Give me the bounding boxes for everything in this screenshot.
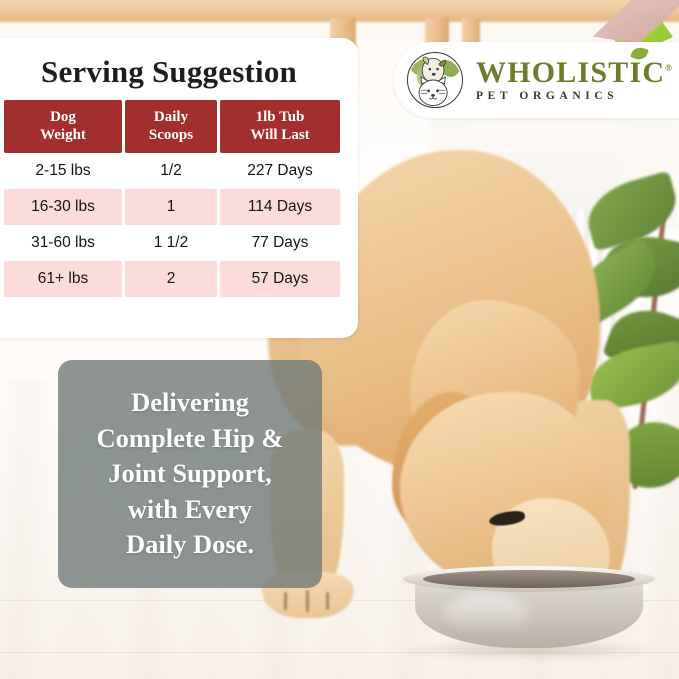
cell-tub-duration: 227 Days xyxy=(220,153,340,189)
brand-name-text: WHOLISTIC xyxy=(476,56,665,89)
tagline-line: Delivering xyxy=(131,385,249,421)
registered-mark: ® xyxy=(665,63,673,73)
tagline-line: with Every xyxy=(128,492,252,528)
table-header-row: Dog Weight Daily Scoops 1lb Tub Will Las… xyxy=(4,100,340,153)
tagline-line: Daily Dose. xyxy=(126,527,254,563)
bowl-interior xyxy=(423,570,635,588)
cell-daily-scoops: 2 xyxy=(125,261,217,297)
bowl-highlight xyxy=(443,594,529,634)
column-header-dog-weight: Dog Weight xyxy=(4,100,122,153)
dog-and-cat-leaf-badge-icon xyxy=(403,48,467,112)
tagline-line: Joint Support, xyxy=(108,456,271,492)
header-line-2: Scoops xyxy=(149,127,193,143)
cell-tub-duration: 77 Days xyxy=(220,225,340,261)
tagline-line: Complete Hip & xyxy=(97,421,284,457)
cell-dog-weight: 2-15 lbs xyxy=(4,153,122,189)
cell-tub-duration: 114 Days xyxy=(220,189,340,225)
header-line-1: Daily xyxy=(154,109,188,125)
brand-wordmark: WHOLISTIC® PET ORGANICS xyxy=(476,58,673,103)
table-row: 2-15 lbs 1/2 227 Days xyxy=(4,153,340,189)
cell-daily-scoops: 1 xyxy=(125,189,217,225)
product-marketing-image: Serving Suggestion Dog Weight Daily Scoo… xyxy=(0,0,679,679)
page-title: Serving Suggestion xyxy=(0,54,358,90)
cell-daily-scoops: 1/2 xyxy=(125,153,217,189)
cell-daily-scoops: 1 1/2 xyxy=(125,225,217,261)
header-line-1: Dog xyxy=(50,109,76,125)
header-line-2: Will Last xyxy=(250,127,309,143)
brand-logo: WHOLISTIC® PET ORGANICS xyxy=(394,42,679,118)
brand-subtitle: PET ORGANICS xyxy=(476,91,673,103)
column-header-daily-scoops: Daily Scoops xyxy=(125,100,217,153)
tagline-panel: Delivering Complete Hip & Joint Support,… xyxy=(58,360,322,588)
header-line-2: Weight xyxy=(40,127,86,143)
column-header-tub-duration: 1lb Tub Will Last xyxy=(220,100,340,153)
table-row: 16-30 lbs 1 114 Days xyxy=(4,189,340,225)
serving-suggestion-table: Dog Weight Daily Scoops 1lb Tub Will Las… xyxy=(1,100,343,297)
cell-dog-weight: 31-60 lbs xyxy=(4,225,122,261)
brand-name: WHOLISTIC® xyxy=(476,58,673,88)
cell-dog-weight: 16-30 lbs xyxy=(4,189,122,225)
table-row: 61+ lbs 2 57 Days xyxy=(4,261,340,297)
table-row: 31-60 lbs 1 1/2 77 Days xyxy=(4,225,340,261)
cell-tub-duration: 57 Days xyxy=(220,261,340,297)
cell-dog-weight: 61+ lbs xyxy=(4,261,122,297)
header-line-1: 1lb Tub xyxy=(256,109,305,125)
dog-bowl xyxy=(403,560,655,656)
serving-suggestion-card: Serving Suggestion Dog Weight Daily Scoo… xyxy=(0,38,358,338)
